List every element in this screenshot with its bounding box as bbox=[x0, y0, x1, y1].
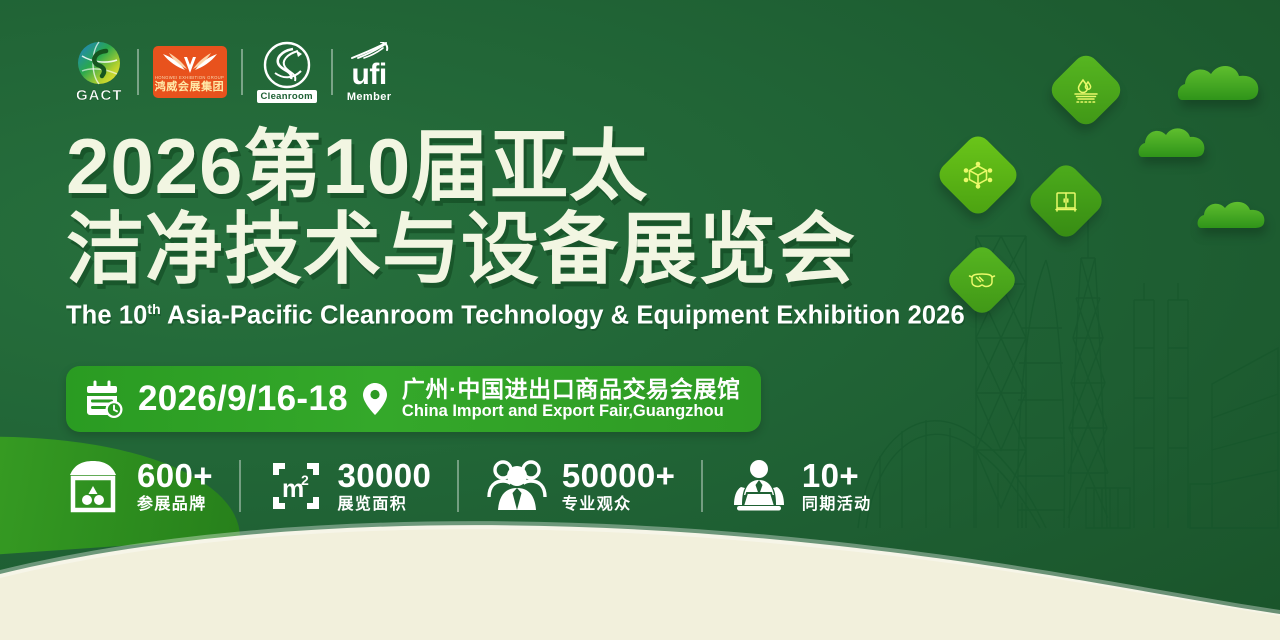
title-line-2: 洁净技术与设备展览会 bbox=[66, 211, 946, 288]
ufi-logo-text: ufi bbox=[352, 60, 387, 90]
ufi-logo-sub: Member bbox=[347, 92, 392, 103]
stat-exhibitor-brands: 600+ 参展品牌 bbox=[62, 456, 213, 516]
hongwei-wing-icon bbox=[161, 51, 219, 75]
ufi-logo: ufi Member bbox=[333, 36, 406, 108]
ufi-swoosh-icon bbox=[348, 42, 390, 60]
stat-exhibition-area: m 2 30000 展览面积 bbox=[267, 457, 432, 515]
water-filter-icon bbox=[1071, 75, 1101, 105]
stat-divider-3 bbox=[701, 460, 703, 512]
gact-sphere-icon bbox=[76, 40, 122, 86]
stat-value: 50000+ bbox=[562, 459, 675, 493]
logo-row: GACT HONGWEI EXHIBITION GROUP 鸿威会展集团 bbox=[62, 36, 405, 108]
venue-name-cn: 广州·中国进出口商品交易会展馆 bbox=[402, 377, 741, 402]
visitors-group-icon bbox=[485, 457, 549, 515]
gact-logo-text: GACT bbox=[76, 87, 123, 104]
venue-block: 广州·中国进出口商品交易会展馆 China Import and Export … bbox=[402, 377, 741, 421]
square-meter-icon: m 2 bbox=[267, 457, 325, 515]
diamond-badge-cube bbox=[934, 131, 1022, 219]
stat-label: 参展品牌 bbox=[137, 497, 213, 513]
location-pin-icon bbox=[360, 380, 390, 418]
exhibition-banner: GACT HONGWEI EXHIBITION GROUP 鸿威会展集团 bbox=[0, 0, 1280, 640]
diamond-badge-water-filter bbox=[1046, 50, 1125, 129]
subtitle-english: The 10th Asia-Pacific Cleanroom Technolo… bbox=[66, 301, 946, 331]
cleanroom-logo: Cleanroom bbox=[243, 36, 331, 108]
safety-goggles-icon bbox=[967, 265, 997, 295]
date-venue-pill: 2026/9/16-18 广州·中国进出口商品交易会展馆 China Impor… bbox=[66, 366, 761, 432]
stats-row: 600+ 参展品牌 m 2 30000 展览面积 bbox=[62, 446, 872, 526]
stat-professional-visitors: 50000+ 专业观众 bbox=[485, 457, 675, 515]
stat-label: 同期活动 bbox=[802, 497, 872, 513]
hongwei-logo: HONGWEI EXHIBITION GROUP 鸿威会展集团 bbox=[139, 36, 241, 108]
stat-value: 600+ bbox=[137, 459, 213, 493]
cloud-shape-1 bbox=[1176, 62, 1264, 104]
cube-3d-icon bbox=[961, 158, 995, 192]
cloud-shape-2 bbox=[1137, 125, 1207, 161]
venue-name-en: China Import and Export Fair,Guangzhou bbox=[402, 403, 741, 421]
stat-divider-1 bbox=[239, 460, 241, 512]
booth-recycle-icon bbox=[62, 456, 124, 516]
bottom-cream-wave bbox=[0, 510, 1280, 640]
event-date: 2026/9/16-18 bbox=[138, 379, 348, 419]
stat-label: 专业观众 bbox=[562, 497, 675, 513]
stat-value: 10+ bbox=[802, 459, 872, 493]
cloud-shape-3 bbox=[1196, 198, 1268, 232]
stat-value: 30000 bbox=[338, 459, 432, 493]
person-laptop-icon bbox=[729, 457, 789, 515]
subtitle-post: Asia-Pacific Cleanroom Technology & Equi… bbox=[161, 302, 965, 330]
cabinet-icon bbox=[1051, 186, 1081, 216]
headline-block: 2026第10届亚太 洁净技术与设备展览会 The 10th Asia-Paci… bbox=[66, 128, 946, 331]
stat-label: 展览面积 bbox=[338, 497, 432, 513]
subtitle-pre: The 10 bbox=[66, 302, 147, 330]
stat-divider-2 bbox=[457, 460, 459, 512]
title-line-1: 2026第10届亚太 bbox=[66, 128, 946, 205]
subtitle-ordinal: th bbox=[147, 301, 160, 317]
gact-logo: GACT bbox=[62, 36, 137, 108]
diamond-badge-cabinet bbox=[1025, 160, 1107, 242]
hongwei-logo-cn: 鸿威会展集团 bbox=[155, 81, 225, 93]
cleanroom-logo-text: Cleanroom bbox=[257, 90, 317, 103]
stat-concurrent-events: 10+ 同期活动 bbox=[729, 457, 872, 515]
calendar-clock-icon bbox=[82, 377, 126, 421]
svg-text:2: 2 bbox=[301, 472, 309, 488]
cleanroom-swoosh-icon bbox=[263, 41, 311, 89]
